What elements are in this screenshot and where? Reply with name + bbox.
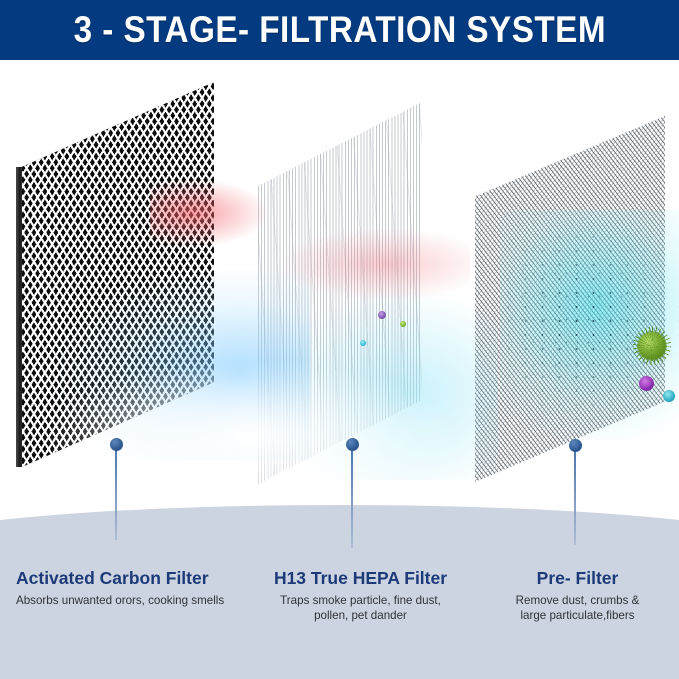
caption-pre-filter: Pre- Filter Remove dust, crumbs & large … — [480, 568, 675, 623]
caption-activated-carbon: Activated Carbon Filter Absorbs unwanted… — [16, 568, 246, 609]
filter-illustration — [0, 60, 679, 540]
pin-dot-icon — [110, 438, 123, 451]
filter-panel-h13-true-hepa — [258, 102, 422, 484]
caption-description-pre-filter: Remove dust, crumbs & large particulate,… — [480, 594, 675, 623]
fine-particle-cyan-icon — [360, 340, 366, 346]
caption-description-line1: Traps smoke particle, fine dust, — [280, 594, 441, 607]
header-banner: 3 - STAGE- FILTRATION SYSTEM — [0, 0, 679, 60]
caption-title-h13-true-hepa: H13 True HEPA Filter — [253, 568, 468, 589]
fine-particle-green-icon — [400, 321, 406, 327]
pin-dot-icon — [569, 439, 582, 452]
caption-description-line2: pollen, pet dander — [314, 609, 407, 622]
fine-particle-violet-icon — [378, 311, 386, 319]
caption-description-h13-true-hepa: Traps smoke particle, fine dust, pollen,… — [253, 594, 468, 623]
caption-title-activated-carbon: Activated Carbon Filter — [16, 568, 246, 589]
hepa-pleat-texture — [258, 102, 422, 484]
caption-description-line1: Remove dust, crumbs & — [516, 594, 640, 607]
filter-panel-activated-carbon — [22, 82, 214, 467]
caption-title-pre-filter: Pre- Filter — [480, 568, 675, 589]
pin-line — [351, 448, 353, 548]
bacteria-particle-icon — [663, 390, 675, 402]
page-title: 3 - STAGE- FILTRATION SYSTEM — [73, 9, 605, 51]
pin-line — [115, 448, 117, 540]
pin-line — [574, 449, 576, 545]
caption-description-line2: large particulate,fibers — [520, 609, 634, 622]
caption-h13-true-hepa: H13 True HEPA Filter Traps smoke particl… — [253, 568, 468, 623]
caption-description-activated-carbon: Absorbs unwanted orors, cooking smells — [16, 594, 246, 609]
carbon-mesh-texture — [22, 82, 214, 467]
carbon-frame-edge — [16, 167, 23, 467]
infographic-root: 3 - STAGE- FILTRATION SYSTEM — [0, 0, 679, 679]
pollen-particle-icon — [638, 332, 666, 360]
virus-particle-icon — [639, 376, 654, 391]
pin-dot-icon — [346, 438, 359, 451]
